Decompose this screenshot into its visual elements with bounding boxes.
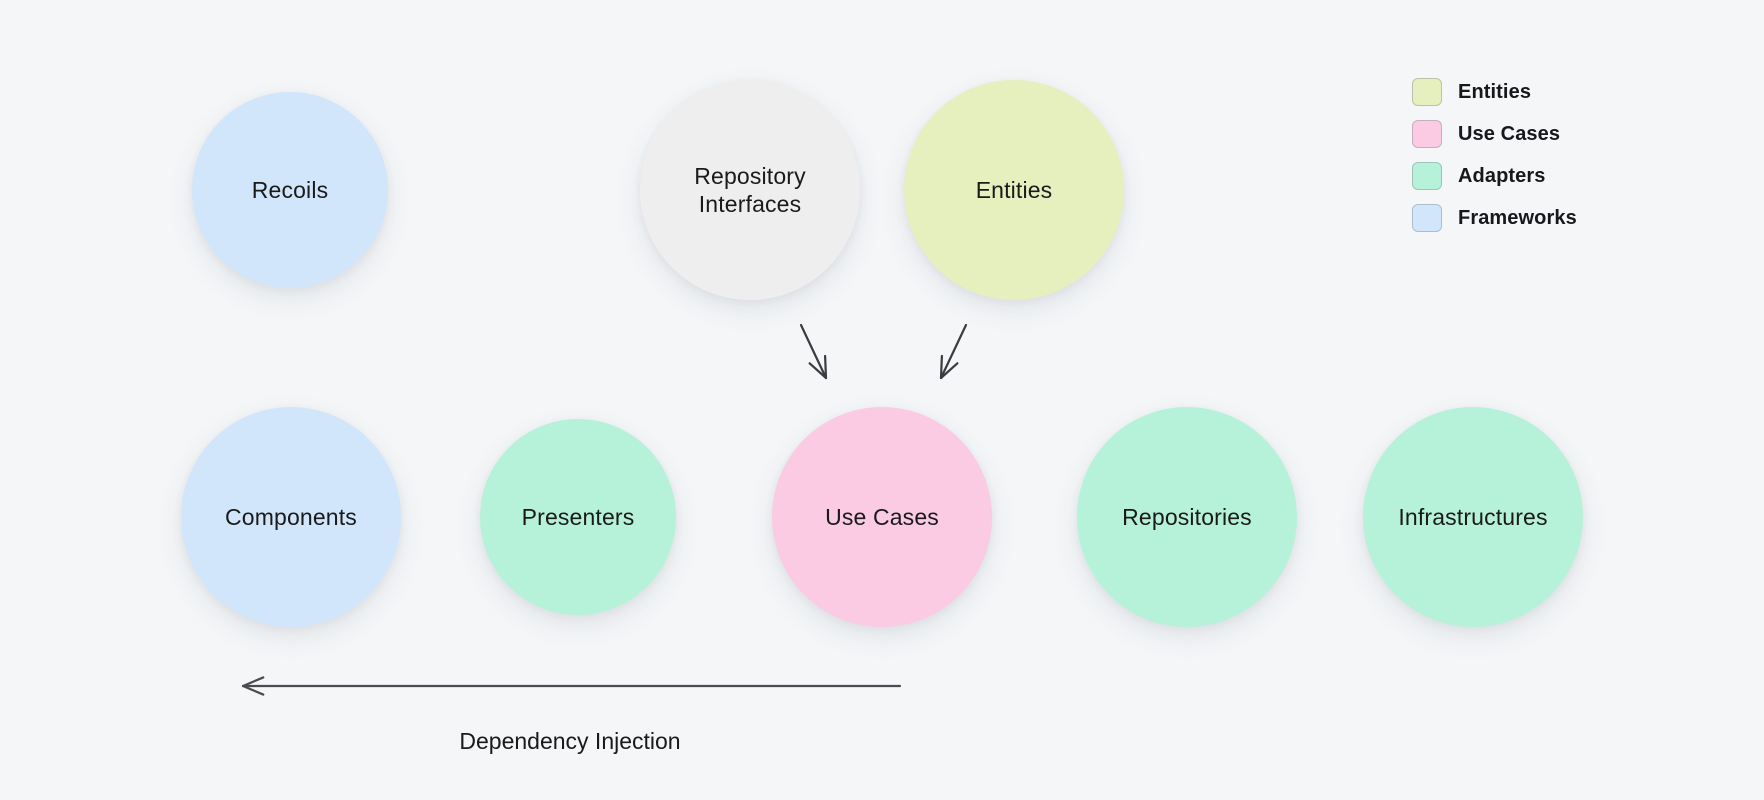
legend-swatch-icon <box>1412 120 1442 148</box>
node-repository-interfaces[interactable]: RepositoryInterfaces <box>640 80 860 300</box>
dependency-injection-arrow <box>243 677 900 694</box>
legend-item-label: Entities <box>1458 81 1531 104</box>
legend-item-label: Frameworks <box>1458 207 1577 230</box>
node-infrastructures[interactable]: Infrastructures <box>1363 407 1583 627</box>
connector-repository-interfaces-to-use-cases <box>801 325 826 378</box>
legend-item-label: Use Cases <box>1458 123 1560 146</box>
arrowhead-icon <box>243 677 263 694</box>
node-entities[interactable]: Entities <box>904 80 1124 300</box>
node-presenters[interactable]: Presenters <box>480 419 676 615</box>
legend-item-use-cases[interactable]: Use Cases <box>1412 120 1577 148</box>
legend-swatch-icon <box>1412 162 1442 190</box>
node-label: Repositories <box>1112 503 1262 531</box>
legend: EntitiesUse CasesAdaptersFrameworks <box>1412 78 1577 232</box>
legend-swatch-icon <box>1412 78 1442 106</box>
node-label: Infrastructures <box>1388 503 1557 531</box>
node-recoils[interactable]: Recoils <box>192 92 388 288</box>
node-label: Recoils <box>242 176 338 204</box>
node-label: Components <box>215 503 367 531</box>
node-label: Use Cases <box>815 503 949 531</box>
dependency-injection-label: Dependency Injection <box>0 728 1140 755</box>
node-label-line: Interfaces <box>694 190 805 218</box>
node-label: RepositoryInterfaces <box>684 162 815 218</box>
node-label: Entities <box>966 176 1063 204</box>
connector-entities-to-use-cases <box>941 325 966 378</box>
node-label: Presenters <box>512 503 645 531</box>
legend-item-entities[interactable]: Entities <box>1412 78 1577 106</box>
node-repositories[interactable]: Repositories <box>1077 407 1297 627</box>
diagram-canvas: RecoilsRepositoryInterfacesEntitiesCompo… <box>0 0 1764 800</box>
arrowhead-icon <box>941 356 957 378</box>
node-use-cases[interactable]: Use Cases <box>772 407 992 627</box>
legend-swatch-icon <box>1412 204 1442 232</box>
arrowhead-icon <box>810 356 826 378</box>
node-components[interactable]: Components <box>181 407 401 627</box>
node-label-line: Repository <box>694 162 805 190</box>
legend-item-label: Adapters <box>1458 165 1546 188</box>
legend-item-frameworks[interactable]: Frameworks <box>1412 204 1577 232</box>
legend-item-adapters[interactable]: Adapters <box>1412 162 1577 190</box>
